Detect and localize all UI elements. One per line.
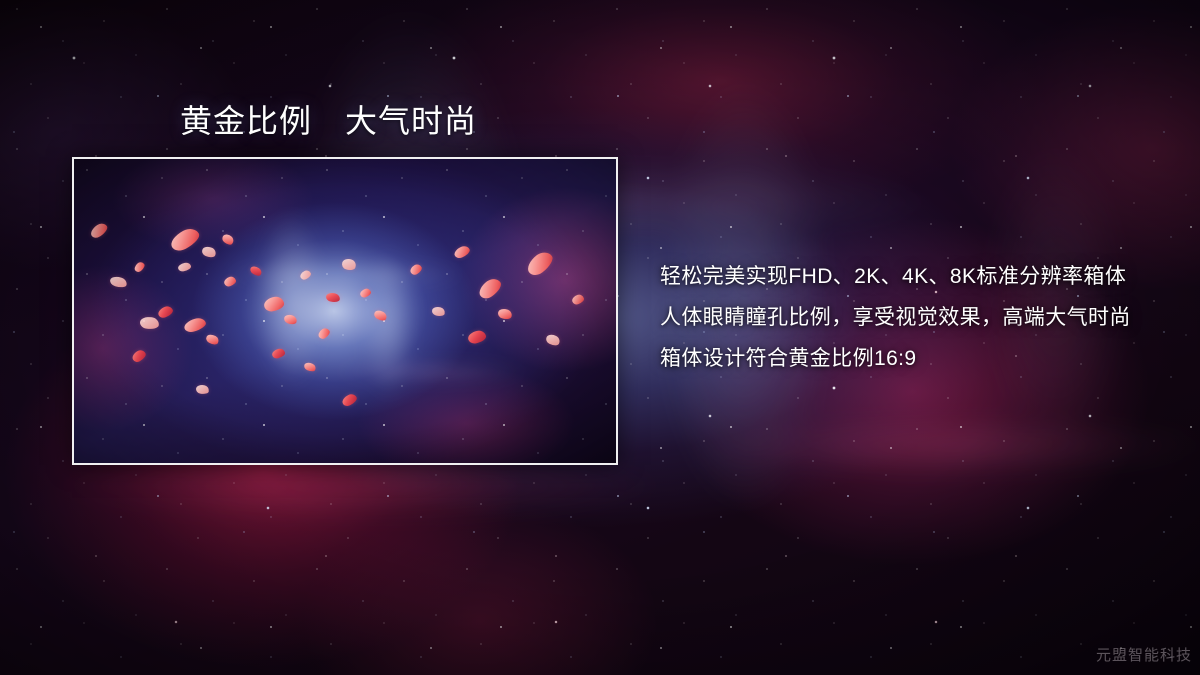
photo-frame xyxy=(72,157,618,465)
watermark: 元盟智能科技 xyxy=(1096,646,1192,666)
nebula-petals-photo xyxy=(74,159,616,463)
body-text-line: 箱体设计符合黄金比例16:9 xyxy=(660,338,1160,379)
slide-title: 黄金比例 大气时尚 xyxy=(180,101,477,141)
body-text-block: 轻松完美实现FHD、2K、4K、8K标准分辨率箱体 人体眼睛瞳孔比例，享受视觉效… xyxy=(660,256,1160,379)
body-text-line: 轻松完美实现FHD、2K、4K、8K标准分辨率箱体 xyxy=(660,256,1160,297)
presentation-slide: 黄金比例 大气时尚 xyxy=(0,0,1200,675)
body-text-line: 人体眼睛瞳孔比例，享受视觉效果，高端大气时尚 xyxy=(660,297,1160,338)
photo-vignette-overlay xyxy=(74,159,616,463)
